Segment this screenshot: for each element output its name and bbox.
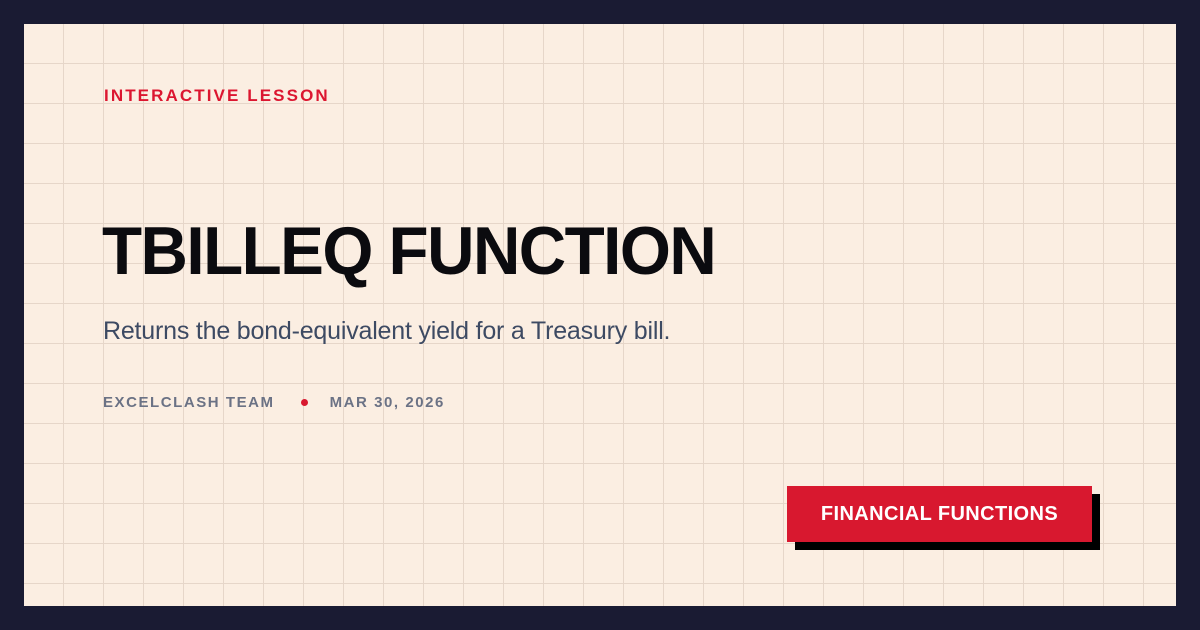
badge-body[interactable]: FINANCIAL FUNCTIONS [787,486,1092,542]
grid-canvas: INTERACTIVE LESSON TBILLEQ FUNCTION Retu… [24,24,1176,606]
badge-label: FINANCIAL FUNCTIONS [821,504,1058,524]
byline: EXCELCLASH TEAM MAR 30, 2026 [103,395,445,410]
page-title: TBILLEQ FUNCTION [102,217,715,285]
bullet-separator-icon [301,399,308,406]
category-badge[interactable]: FINANCIAL FUNCTIONS [787,486,1100,550]
byline-date: MAR 30, 2026 [330,395,445,410]
byline-author: EXCELCLASH TEAM [103,395,275,410]
eyebrow-label: INTERACTIVE LESSON [104,87,330,104]
page-frame: INTERACTIVE LESSON TBILLEQ FUNCTION Retu… [0,0,1200,630]
page-subtitle: Returns the bond-equivalent yield for a … [103,316,670,346]
